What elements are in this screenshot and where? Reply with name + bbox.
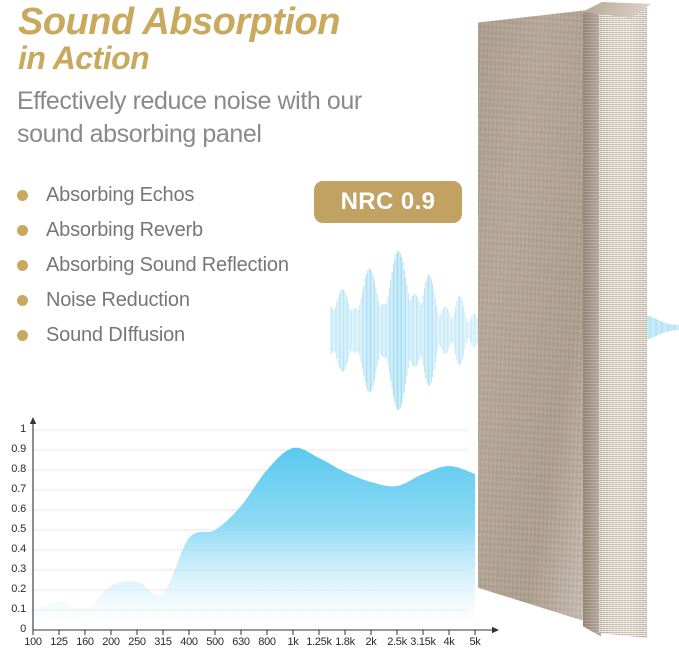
list-item-label: Noise Reduction: [46, 289, 190, 312]
headline-block: Sound Absorption in Action: [18, 2, 448, 76]
chart-y-tick-label: 0.4: [2, 543, 26, 555]
headline-line-2: in Action: [18, 42, 448, 76]
chart-y-tick-label: 0.2: [2, 583, 26, 595]
list-item-label: Sound DIffusion: [46, 324, 185, 347]
chart-y-tick-label: 1: [2, 423, 26, 435]
panel-side-face: [599, 4, 647, 642]
chart-y-tick-label: 0.5: [2, 523, 26, 535]
list-item: Sound DIffusion: [17, 318, 347, 353]
list-item: Absorbing Echos: [17, 178, 347, 213]
list-item-label: Absorbing Reverb: [46, 219, 203, 242]
acoustic-panel-3d: [478, 0, 679, 648]
list-item: Noise Reduction: [17, 283, 347, 318]
absorption-coefficient-chart: 00.10.20.30.40.50.60.70.80.91 1001251602…: [0, 412, 500, 653]
nrc-badge: NRC 0.9: [314, 181, 462, 223]
chart-area-series: [33, 448, 475, 630]
subtitle: Effectively reduce noise with our sound …: [17, 85, 427, 151]
chart-y-tick-label: 0: [2, 623, 26, 635]
bullet-dot-icon: [17, 225, 28, 236]
panel-inner-edge: [583, 6, 601, 639]
chart-plot: [0, 412, 500, 653]
chart-y-tick-label: 0.6: [2, 503, 26, 515]
chart-x-tick-label: 5k: [459, 636, 491, 648]
bullet-dot-icon: [17, 260, 28, 271]
list-item: Absorbing Reverb: [17, 213, 347, 248]
list-item-label: Absorbing Echos: [46, 184, 194, 207]
headline-line-1: Sound Absorption: [18, 2, 448, 42]
nrc-badge-label: NRC 0.9: [341, 188, 436, 216]
chart-y-tick-label: 0.3: [2, 563, 26, 575]
chart-y-tick-label: 0.1: [2, 603, 26, 615]
chart-x-ticks: [33, 630, 475, 635]
feature-list: Absorbing Echos Absorbing Reverb Absorbi…: [17, 178, 347, 353]
bullet-dot-icon: [17, 330, 28, 341]
chart-y-tick-label: 0.9: [2, 443, 26, 455]
bullet-dot-icon: [17, 295, 28, 306]
list-item: Absorbing Sound Reflection: [17, 248, 347, 283]
chart-y-tick-label: 0.8: [2, 463, 26, 475]
list-item-label: Absorbing Sound Reflection: [46, 254, 289, 277]
infographic-canvas: Sound Absorption in Action Effectively r…: [0, 0, 679, 653]
bullet-dot-icon: [17, 190, 28, 201]
chart-y-tick-label: 0.7: [2, 483, 26, 495]
